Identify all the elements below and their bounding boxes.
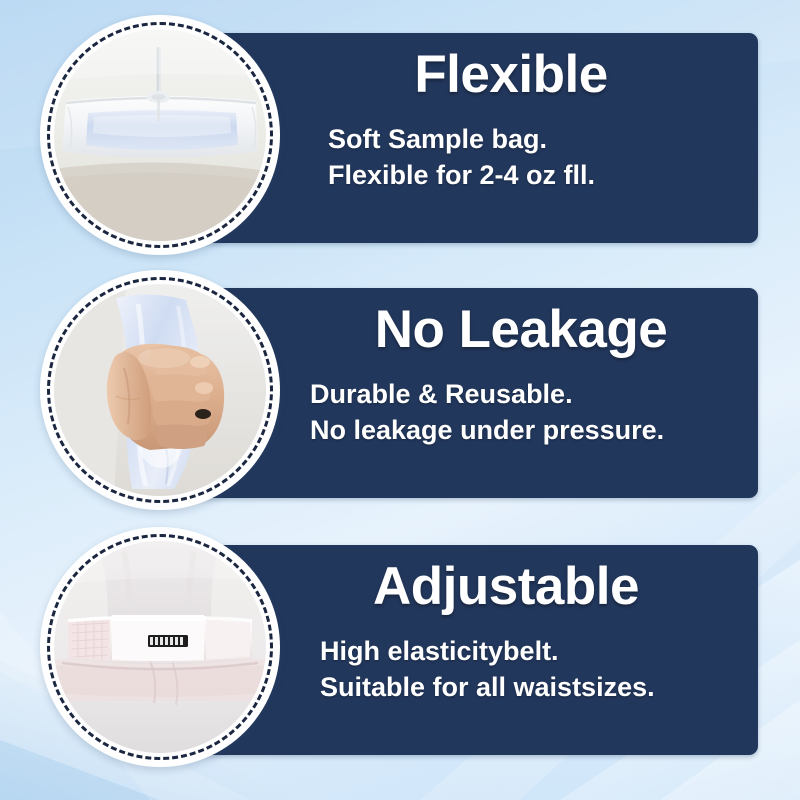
feature-description-adjustable: High elasticitybelt. Suitable for all wa… [310,633,742,705]
feature-row-flexible: Flexible Soft Sample bag. Flexible for 2… [0,15,800,260]
sample-bag-flat-photo [54,29,266,241]
feature-photo-badge-no-leakage [40,270,280,510]
elastic-waist-belt-photo [54,541,266,753]
feature-line: High elasticitybelt. [320,633,742,669]
feature-photo-badge-adjustable [40,527,280,767]
hand-squeezing-bag-photo [54,284,266,496]
feature-line: Suitable for all waistsizes. [320,669,742,705]
feature-title-flexible: Flexible [310,47,742,103]
feature-row-no-leakage: No Leakage Durable & Reusable. No leakag… [0,270,800,515]
feature-row-adjustable: Adjustable High elasticitybelt. Suitable… [0,527,800,772]
feature-line: No leakage under pressure. [310,412,742,448]
feature-title-adjustable: Adjustable [310,559,742,615]
feature-line: Flexible for 2-4 oz fll. [328,157,742,193]
feature-description-no-leakage: Durable & Reusable. No leakage under pre… [310,376,742,448]
feature-photo-badge-flexible [40,15,280,255]
feature-line: Soft Sample bag. [328,121,742,157]
feature-line: Durable & Reusable. [310,376,742,412]
feature-description-flexible: Soft Sample bag. Flexible for 2-4 oz fll… [310,121,742,193]
infographic-stage: Flexible Soft Sample bag. Flexible for 2… [0,0,800,800]
feature-title-no-leakage: No Leakage [310,302,742,358]
